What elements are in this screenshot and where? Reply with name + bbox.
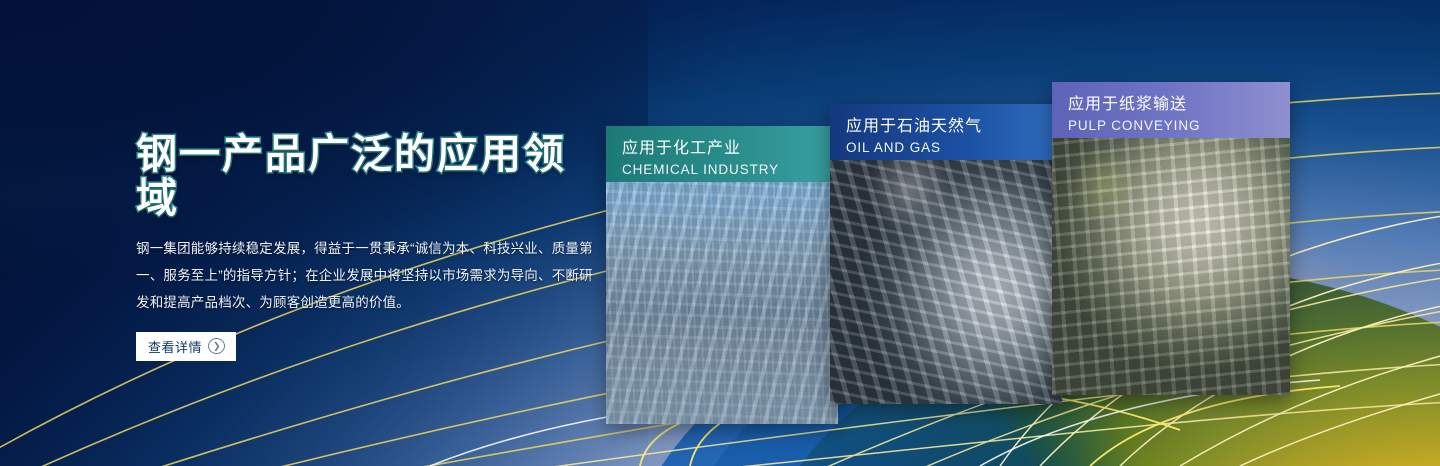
- application-card-oil-and-gas[interactable]: 应用于石油天然气 OIL AND GAS: [830, 104, 1062, 404]
- application-card-chemical[interactable]: 应用于化工产业 CHEMICAL INDUSTRY: [606, 126, 838, 424]
- hero-banner: 钢一产品广泛的应用领域 钢一集团能够持续稳定发展，得益于一贯秉承“诚信为本、科技…: [0, 0, 1440, 466]
- chevron-right-circle-icon: ❯: [208, 338, 225, 354]
- card-title-en: PULP CONVEYING: [1068, 117, 1290, 135]
- page-title: 钢一产品广泛的应用领域: [136, 132, 606, 221]
- card-label-pulp-conveying: 应用于纸浆输送 PULP CONVEYING: [1052, 82, 1290, 138]
- hero-description: 钢一集团能够持续稳定发展，得益于一贯秉承“诚信为本、科技兴业、质量第一、服务至上…: [136, 235, 606, 316]
- card-title-en: CHEMICAL INDUSTRY: [622, 161, 838, 179]
- card-label-oil-and-gas: 应用于石油天然气 OIL AND GAS: [830, 104, 1062, 160]
- card-title-en: OIL AND GAS: [846, 139, 1062, 157]
- card-title-cn: 应用于石油天然气: [846, 116, 1062, 138]
- view-details-label: 查看详情: [148, 337, 202, 356]
- application-card-pulp-conveying[interactable]: 应用于纸浆输送 PULP CONVEYING: [1052, 82, 1290, 395]
- card-title-cn: 应用于纸浆输送: [1068, 94, 1290, 116]
- card-title-cn: 应用于化工产业: [622, 138, 838, 160]
- card-label-chemical: 应用于化工产业 CHEMICAL INDUSTRY: [606, 126, 838, 182]
- hero-copy: 钢一产品广泛的应用领域 钢一集团能够持续稳定发展，得益于一贯秉承“诚信为本、科技…: [136, 132, 606, 361]
- view-details-button[interactable]: 查看详情 ❯: [136, 332, 236, 361]
